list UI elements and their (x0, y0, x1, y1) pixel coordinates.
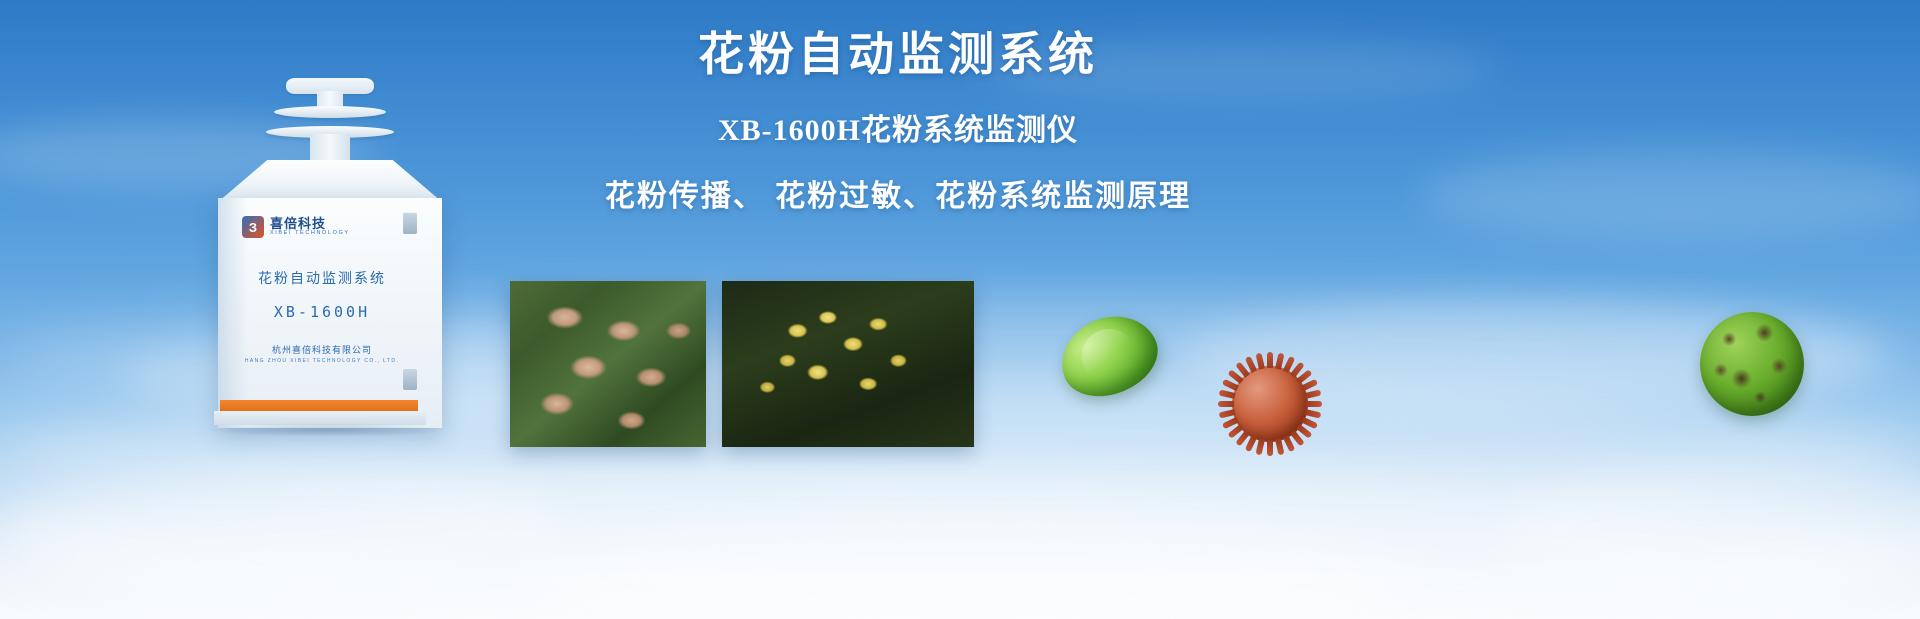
headline-subtitle-model: XB-1600H花粉系统监测仪 (598, 105, 1198, 149)
cloud-wisp (1420, 150, 1920, 240)
headline-subtitle-topics: 花粉传播、 花粉过敏、花粉系统监测原理 (598, 171, 1198, 215)
photo-catkin-flower (722, 281, 974, 447)
device-illustration: З 喜倍科技 XIBEI TECHNOLOGY 花粉自动监测系统 XB-1600… (200, 78, 460, 428)
pollen-spike (1306, 401, 1322, 407)
pollen-spike (1304, 409, 1321, 418)
device-company-cn: 杭州喜倍科技有限公司 (200, 343, 444, 356)
pollen-spike (1304, 390, 1321, 399)
rough-pollen-grain (1700, 312, 1804, 416)
page-title: 花粉自动监测系统 (598, 28, 1198, 81)
brand-mark-icon: З (242, 216, 264, 238)
brand-text: 喜倍科技 XIBEI TECHNOLOGY (270, 217, 350, 237)
pollen-spike (1275, 438, 1284, 455)
pollen-spike (1256, 438, 1265, 455)
device-brand-logo: З 喜倍科技 XIBEI TECHNOLOGY (242, 216, 350, 238)
headline-group: 花粉自动监测系统 XB-1600H花粉系统监测仪 花粉传播、 花粉过敏、花粉系统… (598, 28, 1198, 215)
spiky-pollen-grain (1218, 352, 1322, 456)
device-latch (403, 212, 417, 234)
brand-name-cn: 喜倍科技 (270, 217, 350, 231)
device-accent-stripe (220, 400, 418, 411)
brand-name-en: XIBEI TECHNOLOGY (270, 231, 350, 237)
device-company-en: HANG ZHOU XIBEI TECHNOLOGY CO., LTD. (200, 358, 444, 364)
pollen-spike (1267, 352, 1273, 368)
banner-stage: 花粉自动监测系统 XB-1600H花粉系统监测仪 花粉传播、 花粉过敏、花粉系统… (0, 0, 1920, 619)
device-top-panel (218, 160, 442, 202)
device-inlet-ring (274, 106, 386, 118)
device-latch (403, 368, 417, 390)
pollen-spike (1267, 440, 1273, 456)
device-panel-model: XB-1600H (200, 303, 444, 321)
cloud-wisp (0, 470, 560, 580)
photo-cypress-pollen-cones (510, 281, 706, 447)
cloud-wisp (520, 520, 1420, 619)
device-panel-title: 花粉自动监测系统 (200, 268, 444, 288)
pollen-spike (1218, 401, 1234, 407)
device-ground-shadow (206, 423, 448, 437)
